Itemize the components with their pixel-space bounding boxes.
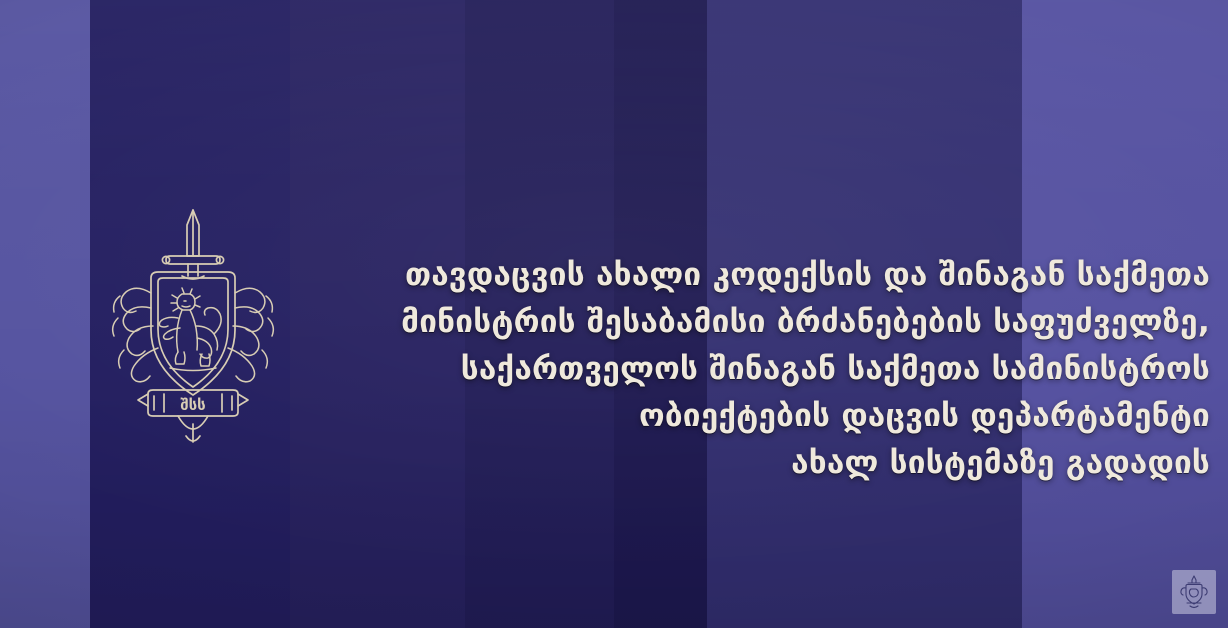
headline-line-5: ახალ სისტემაზე გადადის [305,440,1210,487]
background-band-1 [0,0,90,628]
headline-line-1: თავდაცვის ახალი კოდექსის და შინაგან საქმ… [305,252,1210,299]
headline-line-4: ობიექტების დაცვის დეპარტამენტი [305,393,1210,440]
emblem-banner-text: შსს [180,396,205,414]
watermark-coat-of-arms-icon [1179,575,1209,609]
headline-text-block: თავდაცვის ახალი კოდექსის და შინაგან საქმ… [305,252,1210,487]
coat-of-arms-icon: შსს [98,198,288,448]
headline-line-2: მინისტრის შესაბამისი ბრძანებების საფუძვე… [305,299,1210,346]
headline-line-3: საქართველოს შინაგან საქმეთა სამინისტროს [305,346,1210,393]
announcement-slate: შსს თავდაცვის ახალი კოდექსის და შინაგან … [0,0,1228,628]
corner-watermark-badge [1172,570,1216,614]
coat-of-arms-emblem: შსს [98,198,288,448]
